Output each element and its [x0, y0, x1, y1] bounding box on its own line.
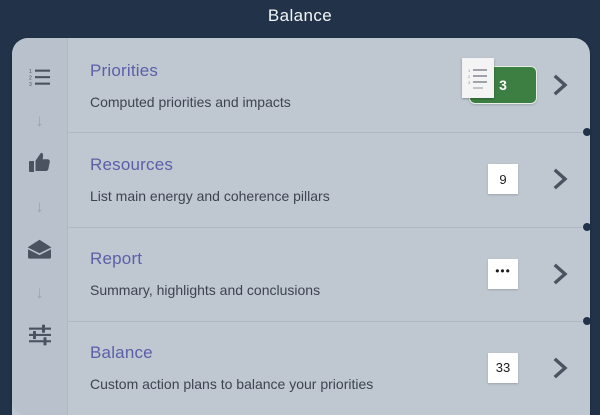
chevron-right-icon[interactable] [546, 167, 576, 191]
numbered-list-icon: 1 2 3 [29, 67, 51, 87]
page-title: Balance [268, 6, 332, 26]
svg-text:1: 1 [29, 69, 32, 75]
row-text: Priorities Computed priorities and impac… [90, 61, 460, 110]
list-item-report[interactable]: Report Summary, highlights and conclusio… [68, 227, 590, 321]
svg-text:3: 3 [468, 80, 471, 85]
svg-text:2: 2 [29, 76, 32, 82]
status-badge[interactable]: 9 [488, 164, 518, 194]
row-subtitle: Summary, highlights and conclusions [90, 282, 460, 298]
svg-text:3: 3 [29, 82, 32, 87]
rail-slot-balance[interactable] [12, 306, 67, 364]
row-text: Resources List main energy and coherence… [90, 155, 460, 204]
row-subtitle: Computed priorities and impacts [90, 94, 460, 110]
chevron-right-icon[interactable] [546, 356, 576, 380]
arrow-down-icon-1: ↓ [12, 106, 67, 134]
row-subtitle: List main energy and coherence pillars [90, 188, 460, 204]
icon-rail: 1 2 3 ↓ ↓ [12, 38, 68, 415]
row-title: Report [90, 249, 460, 269]
status-badge[interactable]: 33 [488, 353, 518, 383]
svg-text:1: 1 [468, 68, 471, 73]
row-text: Balance Custom action plans to balance y… [90, 343, 460, 392]
chevron-right-icon[interactable] [546, 73, 576, 97]
badge-area[interactable]: 3 1 2 3 [460, 55, 546, 115]
numbered-list-document-icon: 1 2 3 [462, 58, 494, 98]
rail-slot-priorities[interactable]: 1 2 3 [12, 48, 67, 106]
row-title: Balance [90, 343, 460, 363]
row-title: Priorities [90, 61, 460, 81]
row-title: Resources [90, 155, 460, 175]
status-badge[interactable]: ••• [488, 259, 518, 289]
rail-slot-resources[interactable] [12, 134, 67, 192]
menu-card: 1 2 3 ↓ ↓ [12, 38, 590, 415]
rail-slot-report[interactable] [12, 220, 67, 278]
svg-text:2: 2 [468, 74, 471, 79]
badge-area[interactable]: 33 [460, 338, 546, 398]
sliders-icon [28, 324, 52, 346]
thumbs-up-icon [28, 151, 52, 175]
app-header: Balance [0, 0, 600, 32]
chevron-right-icon[interactable] [546, 262, 576, 286]
open-envelope-icon [27, 239, 52, 259]
row-subtitle: Custom action plans to balance your prio… [90, 376, 460, 392]
list-item-resources[interactable]: Resources List main energy and coherence… [68, 132, 590, 226]
arrow-down-icon-2: ↓ [12, 192, 67, 220]
row-text: Report Summary, highlights and conclusio… [90, 249, 460, 298]
list-item-balance[interactable]: Balance Custom action plans to balance y… [68, 321, 590, 415]
badge-area[interactable]: 9 [460, 149, 546, 209]
list-item-priorities[interactable]: Priorities Computed priorities and impac… [68, 38, 590, 132]
menu-rows: Priorities Computed priorities and impac… [68, 38, 590, 415]
badge-area[interactable]: ••• [460, 244, 546, 304]
arrow-down-icon-3: ↓ [12, 278, 67, 306]
